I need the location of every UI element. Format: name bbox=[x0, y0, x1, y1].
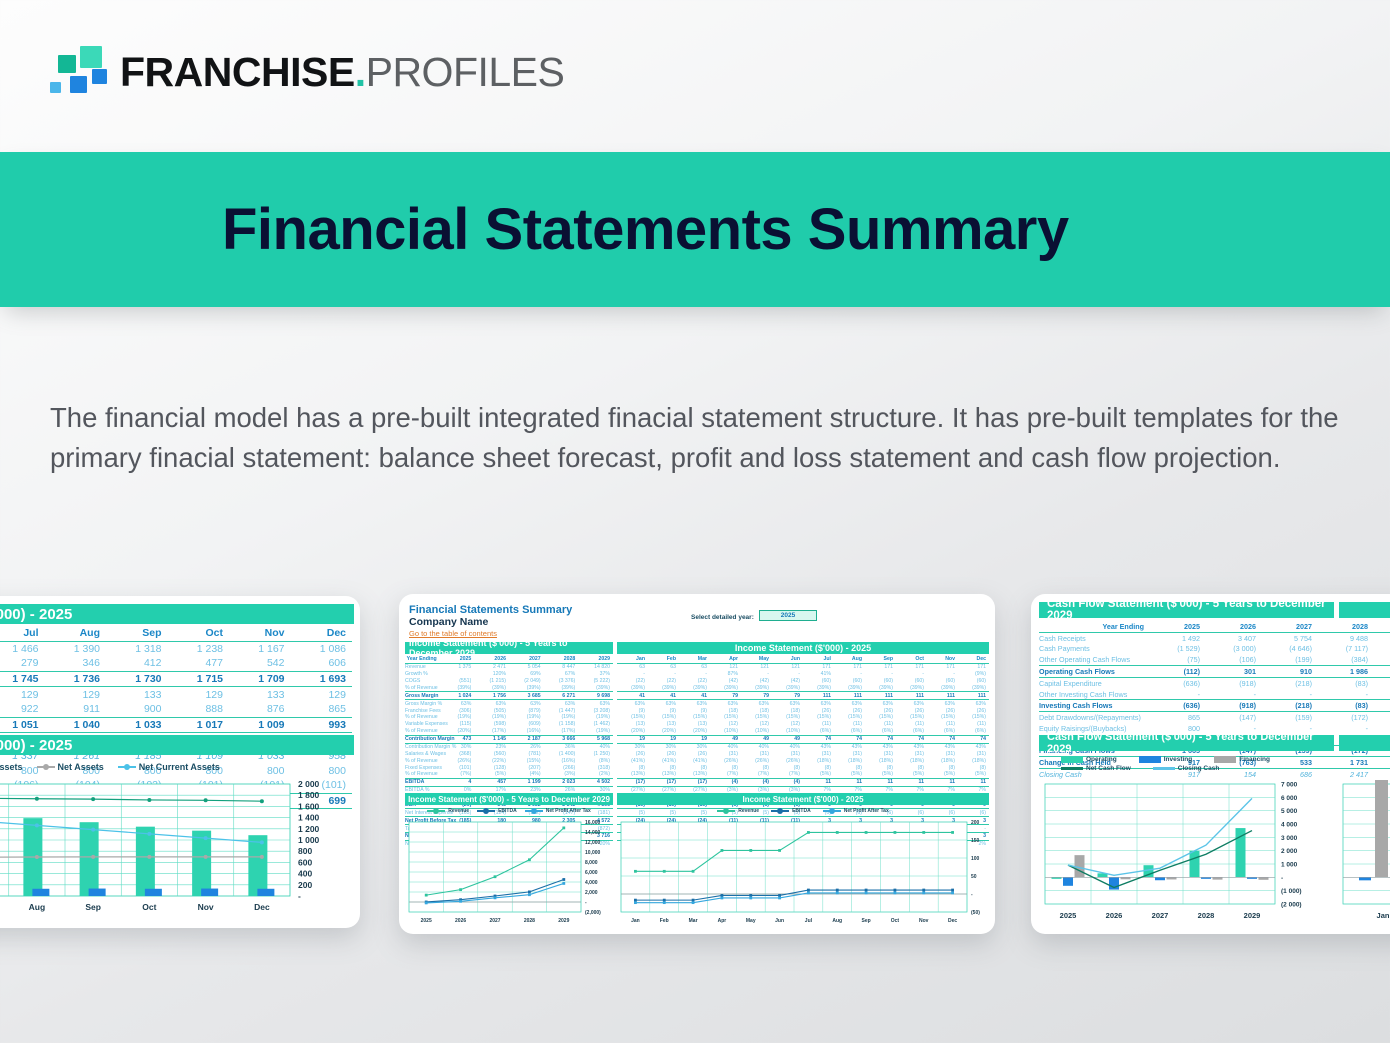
table-cell: - bbox=[834, 671, 865, 678]
table-cell: 111 bbox=[896, 692, 927, 700]
table-cell: (15%) bbox=[896, 714, 927, 721]
table-cell: (7%) bbox=[741, 771, 772, 778]
table-cell: 6 271 bbox=[544, 692, 579, 700]
table-cell: (218) bbox=[1261, 700, 1317, 712]
table-cell: (5%) bbox=[474, 771, 509, 778]
table-row: (26)(26)(26)(31)(31)(31)(31)(31)(31)(31)… bbox=[617, 750, 989, 757]
table-cell: (6%) bbox=[834, 728, 865, 735]
column-header: Nov bbox=[927, 656, 958, 663]
select-year-input[interactable]: 2025 bbox=[759, 610, 817, 621]
table-cell: 5 968 bbox=[578, 735, 613, 743]
table-cell: - bbox=[617, 671, 648, 678]
table-cell: (19%) bbox=[509, 714, 544, 721]
table-cell: (7 117) bbox=[1317, 644, 1373, 655]
row-label: Fixed Expenses bbox=[405, 764, 440, 771]
table-cell: 23% bbox=[474, 743, 509, 750]
table-row: Contribution Margin %30%23%26%36%40% bbox=[405, 743, 613, 750]
cash-flow-month-chart: Jan bbox=[1339, 780, 1390, 928]
cash-flow-screenshot-card: Cash Flow Statement ($'000) - 5 Years to… bbox=[1031, 594, 1390, 934]
table-cell: - bbox=[1205, 689, 1261, 700]
table-row: Franchise Fees(306)(505)(879)(1 447)(3 2… bbox=[405, 707, 613, 714]
table-cell: 26% bbox=[509, 743, 544, 750]
table-cell: 49 bbox=[710, 735, 741, 743]
table-cell: 1 715 bbox=[168, 671, 230, 687]
row-label: Gross Margin bbox=[405, 692, 440, 700]
table-cell: 111 bbox=[865, 692, 896, 700]
svg-text:1 400: 1 400 bbox=[298, 813, 320, 823]
page-title: Financial Statements Summary bbox=[0, 196, 1069, 263]
table-cell: (20%) bbox=[440, 728, 475, 735]
table-cell: (2 049) bbox=[509, 678, 544, 685]
table-cell: (4 646) bbox=[1261, 644, 1317, 655]
table-cell: (39%) bbox=[834, 685, 865, 692]
table-cell: (26) bbox=[958, 707, 989, 714]
column-header: Aug bbox=[834, 656, 865, 663]
table-cell: 2028 bbox=[1317, 621, 1373, 632]
table-cell: 900 bbox=[106, 702, 168, 717]
svg-text:2026: 2026 bbox=[1106, 911, 1123, 920]
table-cell: 79 bbox=[741, 692, 772, 700]
table-cell: (39%) bbox=[958, 685, 989, 692]
table-cell: (9%) bbox=[958, 671, 989, 678]
svg-text:Sep: Sep bbox=[861, 918, 870, 924]
legend-item: Total Assets bbox=[0, 762, 23, 772]
table-cell: 63% bbox=[741, 700, 772, 707]
legend-item: Net Profit After Tax bbox=[823, 808, 889, 814]
table-cell: 63% bbox=[772, 700, 803, 707]
table-cell: 19 bbox=[679, 735, 710, 743]
table-cell: 120% bbox=[474, 671, 509, 678]
table-cell: (18%) bbox=[865, 757, 896, 764]
table-row: EBITDA44571 1992 0234 502 bbox=[405, 778, 613, 786]
svg-text:6 000: 6 000 bbox=[1281, 795, 1298, 802]
table-cell: (12) bbox=[772, 721, 803, 728]
table-row: 636363121121121171171171171171171 bbox=[617, 663, 989, 670]
table-cell: (10 345) bbox=[1373, 644, 1390, 655]
table-cell: 3 407 bbox=[1205, 632, 1261, 643]
table-row: (20%)(20%)(20%)(10%)(10%)(10%)(6%)(6%)(6… bbox=[617, 728, 989, 735]
table-cell: 1 318 bbox=[106, 641, 168, 656]
svg-text:2,000: 2,000 bbox=[585, 890, 598, 896]
table-cell: (15%) bbox=[741, 714, 772, 721]
table-cell: (39%) bbox=[679, 685, 710, 692]
table-cell: (9) bbox=[679, 707, 710, 714]
table-cell: (3 376) bbox=[544, 678, 579, 685]
table-cell: (159) bbox=[1261, 712, 1317, 723]
table-cell bbox=[440, 671, 475, 678]
table-row: (15%)(15%)(15%)(15%)(15%)(15%)(15%)(15%)… bbox=[617, 714, 989, 721]
legend-swatch-icon bbox=[477, 810, 495, 813]
table-cell: 129 bbox=[45, 687, 107, 702]
table-cell: 2 187 bbox=[509, 735, 544, 743]
table-row: Other Investing Cash Flows------ bbox=[1039, 689, 1390, 700]
svg-text:May: May bbox=[746, 918, 756, 924]
table-cell: (7%) bbox=[772, 771, 803, 778]
table-cell: (41%) bbox=[648, 757, 679, 764]
table-cell: (20%) bbox=[648, 728, 679, 735]
table-cell: 171 bbox=[865, 663, 896, 670]
title-banner: Financial Statements Summary bbox=[0, 152, 1390, 307]
svg-text:Mar: Mar bbox=[689, 918, 698, 924]
row-label: Cash Receipts bbox=[1039, 632, 1149, 643]
svg-text:Sep: Sep bbox=[85, 902, 101, 912]
table-cell: (19%) bbox=[578, 714, 613, 721]
table-cell: (5%) bbox=[803, 771, 834, 778]
table-cell: (39%) bbox=[803, 685, 834, 692]
column-header: 2025 bbox=[440, 656, 475, 663]
income-statement-screenshot-card: Financial Statements Summary Company Nam… bbox=[399, 594, 995, 934]
row-label: % of Revenue bbox=[405, 757, 440, 764]
column-header: May bbox=[741, 656, 772, 663]
row-label: Revenue bbox=[405, 663, 440, 670]
table-cell: (10%) bbox=[772, 728, 803, 735]
table-row: % of Revenue(19%)(19%)(19%)(19%)(19%) bbox=[405, 714, 613, 721]
table-cell: (560) bbox=[474, 750, 509, 757]
table-row: 1 0451 0381 0511 0401 0331 0171 009993 bbox=[0, 717, 352, 733]
column-header: Oct bbox=[168, 626, 230, 641]
table-cell: 5 754 bbox=[1261, 632, 1317, 643]
table-cell: (128) bbox=[474, 764, 509, 771]
table-cell: 69% bbox=[509, 671, 544, 678]
table-cell: (266) bbox=[544, 764, 579, 771]
table-cell: (8) bbox=[741, 764, 772, 771]
cash-flow-chart-band: Cash Flow Statement ($'000) - 5 Years to… bbox=[1039, 735, 1334, 751]
table-cell: (112) bbox=[1149, 666, 1205, 678]
table-cell: (1 250) bbox=[578, 750, 613, 757]
table-cell: (318) bbox=[578, 764, 613, 771]
column-header: Nov bbox=[229, 626, 291, 641]
table-cell: 63% bbox=[958, 700, 989, 707]
table-cell: (75) bbox=[1149, 654, 1205, 665]
table-cell: (12) bbox=[710, 721, 741, 728]
table-cell: 171 bbox=[927, 663, 958, 670]
column-header: Oct bbox=[896, 656, 927, 663]
legend-swatch-icon bbox=[525, 810, 543, 813]
table-cell: 4 bbox=[440, 778, 475, 786]
table-cell: (22) bbox=[617, 678, 648, 685]
legend-label: Revenue bbox=[738, 808, 759, 814]
table-cell: 1 145 bbox=[474, 735, 509, 743]
table-cell: - bbox=[648, 671, 679, 678]
legend-label: Total Assets bbox=[0, 762, 23, 772]
legend-item: Net Assets bbox=[37, 762, 104, 772]
table-cell: 171 bbox=[803, 663, 834, 670]
table-cell: (39%) bbox=[710, 685, 741, 692]
table-cell: (5%) bbox=[927, 771, 958, 778]
svg-text:4,000: 4,000 bbox=[585, 880, 598, 886]
table-cell: - bbox=[1373, 723, 1390, 734]
table-row: % of Revenue(39%)(39%)(39%)(39%)(39%) bbox=[405, 685, 613, 692]
svg-text:2027: 2027 bbox=[489, 918, 500, 924]
row-label: Cash Payments bbox=[1039, 644, 1149, 655]
table-cell: (11) bbox=[958, 721, 989, 728]
table-cell: 1 390 bbox=[45, 641, 107, 656]
table-cell: 2026 bbox=[1205, 621, 1261, 632]
table-cell: 1 167 bbox=[229, 641, 291, 656]
table-cell: (609) bbox=[509, 721, 544, 728]
table-cell: (15%) bbox=[648, 714, 679, 721]
svg-text:Dec: Dec bbox=[948, 918, 957, 924]
table-cell: (83) bbox=[1317, 700, 1373, 712]
table-cell: 63 bbox=[648, 663, 679, 670]
table-row: Contribution Margin4731 1452 1873 6665 9… bbox=[405, 735, 613, 743]
table-cell: 63% bbox=[679, 700, 710, 707]
table-cell: - bbox=[1373, 677, 1390, 688]
legend-item: Net Profit After Tax bbox=[525, 808, 591, 814]
table-cell: 1 736 bbox=[45, 671, 107, 687]
table-cell: 79 bbox=[710, 692, 741, 700]
column-header: Jul bbox=[803, 656, 834, 663]
column-header: Apr bbox=[710, 656, 741, 663]
table-cell: 63% bbox=[896, 700, 927, 707]
table-cell: (11) bbox=[927, 721, 958, 728]
table-row: 101104129129133129133129 bbox=[0, 687, 352, 702]
table-cell: 63% bbox=[865, 700, 896, 707]
income-months-band: Income Statement ($'000) - 2025 bbox=[617, 642, 989, 654]
table-cell: 412 bbox=[106, 656, 168, 671]
table-cell: (172) bbox=[1317, 712, 1373, 723]
svg-text:1 000: 1 000 bbox=[298, 835, 320, 845]
row-label: Growth % bbox=[405, 671, 440, 678]
svg-text:-: - bbox=[1281, 875, 1283, 882]
table-cell: - bbox=[679, 671, 710, 678]
table-cell: 14 720 bbox=[1373, 632, 1390, 643]
table-cell: (551) bbox=[440, 678, 475, 685]
table-cell: (18) bbox=[772, 707, 803, 714]
table-cell: (19%) bbox=[440, 714, 475, 721]
table-cell: (1 447) bbox=[544, 707, 579, 714]
table-cell: 876 bbox=[229, 702, 291, 717]
row-label: Franchise Fees bbox=[405, 707, 440, 714]
svg-text:800: 800 bbox=[298, 846, 312, 856]
legend-item: Net Current Assets bbox=[118, 762, 220, 772]
table-cell: 43% bbox=[834, 743, 865, 750]
table-cell: 1 040 bbox=[45, 717, 107, 733]
table-row: Year Ending20252026202720282029Jan bbox=[1039, 621, 1390, 632]
table-cell: 911 bbox=[45, 702, 107, 717]
svg-text:Oct: Oct bbox=[142, 902, 156, 912]
column-header: 2026 bbox=[474, 656, 509, 663]
table-cell: 129 bbox=[0, 687, 45, 702]
table-cell: (306) bbox=[440, 707, 475, 714]
row-label: Gross Margin % bbox=[405, 700, 440, 707]
table-cell: 477 bbox=[168, 656, 230, 671]
table-cell: (26) bbox=[648, 750, 679, 757]
table-cell: (15%) bbox=[772, 714, 803, 721]
svg-text:Aug: Aug bbox=[29, 902, 46, 912]
table-cell: (13%) bbox=[679, 771, 710, 778]
cash-flow-table-band-month bbox=[1339, 602, 1390, 618]
table-cell: (5 222) bbox=[578, 678, 613, 685]
table-cell: 111 bbox=[803, 692, 834, 700]
legend-label: Net Cash Flow bbox=[1086, 765, 1131, 772]
table-row: 178212279346412477542606 bbox=[0, 656, 352, 671]
svg-text:Feb: Feb bbox=[660, 918, 669, 924]
svg-text:(2 000): (2 000) bbox=[1281, 902, 1302, 909]
cash-flow-chart: (2 000)(1 000)-1 0002 0003 0004 0005 000… bbox=[1039, 780, 1335, 928]
table-cell: (5%) bbox=[865, 771, 896, 778]
svg-text:-: - bbox=[298, 891, 301, 901]
balance-sheet-chart: -2004006008001 0001 2001 4001 6001 8002 … bbox=[0, 778, 360, 923]
table-cell: 11 bbox=[958, 778, 989, 786]
table-row: (13%)(13%)(13%)(7%)(7%)(7%)(5%)(5%)(5%)(… bbox=[617, 771, 989, 778]
table-row: Variable Expenses(115)(598)(609)(1 158)(… bbox=[405, 721, 613, 728]
table-row: (13)(13)(13)(12)(12)(12)(11)(11)(11)(11)… bbox=[617, 721, 989, 728]
table-row: Gross Margin %63%63%63%63%63% bbox=[405, 700, 613, 707]
table-cell: (18%) bbox=[958, 757, 989, 764]
table-cell: (42) bbox=[741, 678, 772, 685]
table-cell: (60) bbox=[803, 678, 834, 685]
row-label: Salaries & Wages bbox=[405, 750, 440, 757]
table-cell: (13%) bbox=[617, 771, 648, 778]
table-cell: (39%) bbox=[648, 685, 679, 692]
table-cell: 63 bbox=[617, 663, 648, 670]
table-cell: (918) bbox=[1205, 677, 1261, 688]
table-cell: (680) bbox=[1373, 654, 1390, 665]
table-cell: (8) bbox=[648, 764, 679, 771]
table-cell: (8) bbox=[710, 764, 741, 771]
table-row: Operating Cash Flows(112)3019101 9863 69… bbox=[1039, 666, 1390, 678]
legend-item: EBITDA bbox=[771, 808, 811, 814]
svg-text:(2,000): (2,000) bbox=[585, 910, 601, 916]
svg-text:2029: 2029 bbox=[1244, 911, 1261, 920]
table-cell: 63% bbox=[509, 700, 544, 707]
table-row: Gross Margin1 0241 7563 6856 2719 698 bbox=[405, 692, 613, 700]
table-row: 1 7491 7291 7451 7361 7301 7151 7091 693 bbox=[0, 671, 352, 687]
table-cell: (1 215) bbox=[474, 678, 509, 685]
column-header: Jun bbox=[772, 656, 803, 663]
row-label: Capital Expenditure bbox=[1039, 677, 1149, 688]
table-cell: 40% bbox=[772, 743, 803, 750]
table-cell: 5 054 bbox=[509, 663, 544, 670]
table-cell: 346 bbox=[45, 656, 107, 671]
table-cell: (60) bbox=[834, 678, 865, 685]
table-cell: (39%) bbox=[772, 685, 803, 692]
table-cell: (15%) bbox=[865, 714, 896, 721]
table-cell: (19%) bbox=[578, 728, 613, 735]
table-cell: (384) bbox=[1317, 654, 1373, 665]
table-cell: (13) bbox=[648, 721, 679, 728]
table-cell: (18) bbox=[710, 707, 741, 714]
table-cell: (26) bbox=[834, 707, 865, 714]
table-cell: (60) bbox=[865, 678, 896, 685]
table-cell: (15%) bbox=[509, 757, 544, 764]
table-cell: 41 bbox=[679, 692, 710, 700]
table-cell: (39%) bbox=[896, 685, 927, 692]
svg-text:Nov: Nov bbox=[198, 902, 214, 912]
table-cell: 9 698 bbox=[578, 692, 613, 700]
svg-text:7 000: 7 000 bbox=[1281, 782, 1298, 789]
table-cell: 63% bbox=[927, 700, 958, 707]
table-cell: 14 820 bbox=[578, 663, 613, 670]
table-row: 945934922911900888876865 bbox=[0, 702, 352, 717]
table-cell: 542 bbox=[229, 656, 291, 671]
svg-text:1 200: 1 200 bbox=[298, 824, 320, 834]
row-label: Contribution Margin bbox=[405, 735, 440, 743]
table-cell: 40% bbox=[710, 743, 741, 750]
table-cell: (1 400) bbox=[544, 750, 579, 757]
table-cell: (8) bbox=[958, 764, 989, 771]
table-cell: 171 bbox=[834, 663, 865, 670]
table-cell: (5%) bbox=[896, 771, 927, 778]
table-cell: 63% bbox=[617, 700, 648, 707]
table-cell: 41% bbox=[803, 671, 834, 678]
table-cell: 11 bbox=[927, 778, 958, 786]
table-cell: (39%) bbox=[440, 685, 475, 692]
balance-sheet-chart-band: Balance Sheet ($'000) - 2025 bbox=[0, 735, 354, 755]
svg-text:2 000: 2 000 bbox=[298, 779, 320, 789]
table-row: Cash Receipts1 4923 4075 7549 48814 7203… bbox=[1039, 632, 1390, 643]
table-cell: (8) bbox=[896, 764, 927, 771]
svg-text:2025: 2025 bbox=[1060, 911, 1077, 920]
table-cell: (17%) bbox=[474, 728, 509, 735]
legend-label: Net Assets bbox=[58, 762, 104, 772]
table-cell: 63% bbox=[834, 700, 865, 707]
table-cell: 63% bbox=[474, 700, 509, 707]
table-cell: 1 709 bbox=[229, 671, 291, 687]
table-cell: 8 447 bbox=[544, 663, 579, 670]
table-cell: (9) bbox=[617, 707, 648, 714]
table-cell: (7%) bbox=[710, 771, 741, 778]
column-header: 2029 bbox=[578, 656, 613, 663]
table-cell: (4) bbox=[772, 778, 803, 786]
svg-text:150: 150 bbox=[971, 838, 980, 844]
table-cell: (18%) bbox=[834, 757, 865, 764]
table-cell: 19 bbox=[617, 735, 648, 743]
svg-text:50: 50 bbox=[971, 874, 977, 880]
table-cell: (147) bbox=[1205, 712, 1261, 723]
table-cell: (26%) bbox=[710, 757, 741, 764]
table-cell: (186) bbox=[1373, 712, 1390, 723]
svg-text:14,000: 14,000 bbox=[585, 830, 601, 836]
legend-swatch-icon bbox=[37, 766, 55, 769]
table-cell: (6%) bbox=[803, 728, 834, 735]
legend-item: Net Cash Flow bbox=[1061, 765, 1131, 772]
legend-item: Revenue bbox=[717, 808, 759, 814]
table-cell: (83) bbox=[1317, 677, 1373, 688]
legend-item: Closing Cash bbox=[1153, 765, 1220, 772]
row-label: Other Operating Cash Flows bbox=[1039, 654, 1149, 665]
svg-text:Jan: Jan bbox=[631, 918, 640, 924]
table-cell: (18%) bbox=[803, 757, 834, 764]
table-cell: (4) bbox=[741, 778, 772, 786]
table-cell: (10%) bbox=[741, 728, 772, 735]
table-row: Capital Expenditure(636)(918)(218)(83)-(… bbox=[1039, 677, 1390, 688]
svg-text:8,000: 8,000 bbox=[585, 860, 598, 866]
table-cell: (2%) bbox=[578, 771, 613, 778]
table-cell: 74 bbox=[834, 735, 865, 743]
table-cell: (8) bbox=[803, 764, 834, 771]
table-of-contents-link[interactable]: Go to the table of contents bbox=[409, 629, 497, 638]
table-cell: (106) bbox=[1205, 654, 1261, 665]
legend-item: Operating bbox=[1061, 756, 1117, 763]
table-cell: 63% bbox=[710, 700, 741, 707]
table-cell: (26) bbox=[679, 750, 710, 757]
table-cell: (17) bbox=[617, 778, 648, 786]
table-cell: (26) bbox=[865, 707, 896, 714]
table-cell: 1 756 bbox=[474, 692, 509, 700]
table-cell: 74 bbox=[927, 735, 958, 743]
table-cell: 1 693 bbox=[291, 671, 353, 687]
table-cell: (31) bbox=[741, 750, 772, 757]
cash-flow-chart-legend: OperatingInvestingFinancingNet Cash Flow… bbox=[1061, 756, 1351, 774]
table-row: % of Revenue(26%)(22%)(15%)(16%)(8%) bbox=[405, 757, 613, 764]
table-row: % of Revenue(7%)(5%)(4%)(3%)(2%) bbox=[405, 771, 613, 778]
svg-text:2025: 2025 bbox=[421, 918, 432, 924]
table-cell: (15%) bbox=[803, 714, 834, 721]
table-cell: (6%) bbox=[927, 728, 958, 735]
table-cell: (4%) bbox=[509, 771, 544, 778]
